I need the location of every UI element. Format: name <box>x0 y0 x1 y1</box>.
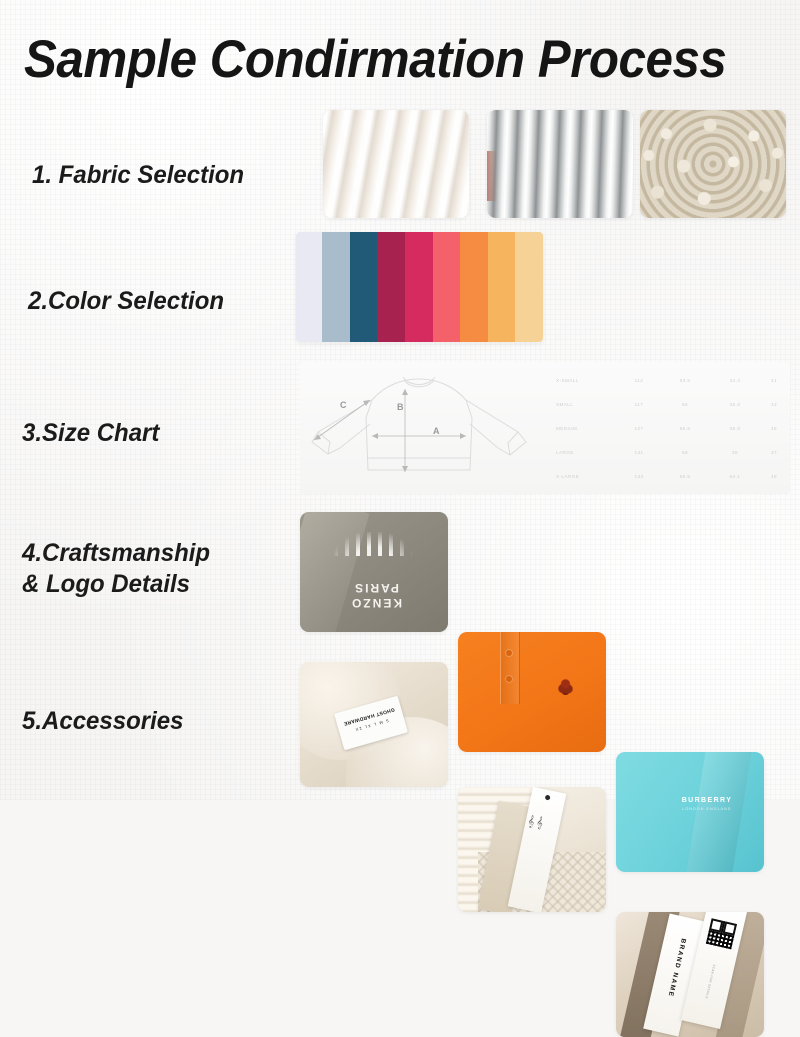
color-palette-card[interactable] <box>296 232 543 342</box>
size-chart-panel[interactable]: A B C X-SMALL11263.534.441SMALL1176535.6… <box>300 362 790 494</box>
size-table-size-cell: SMALL <box>552 392 618 416</box>
size-table-row: X-SMALL11263.534.441 <box>552 368 788 392</box>
accessory-photo-brand-tag[interactable]: BRAND NAME SCAN FOR DETAILS <box>616 912 764 1037</box>
color-band-light-blue-grey[interactable] <box>322 232 350 342</box>
size-table-row: LARGE131683847 <box>552 440 788 464</box>
qr-code-icon <box>706 918 737 949</box>
size-table-value-cell: 69.5 <box>660 464 710 488</box>
accessory-photo-hang-tags[interactable]: 𝄞 𝄞 <box>458 787 606 912</box>
size-table-value-cell: 35.6 <box>710 392 760 416</box>
size-table-value-cell: 63.5 <box>660 368 710 392</box>
size-table-value-cell: 65 <box>660 392 710 416</box>
size-table-value-cell: 64.1 <box>710 464 760 488</box>
size-table-value-cell: 68 <box>660 440 710 464</box>
kenzo-brand-line2: PARIS <box>330 580 422 595</box>
size-measurement-table: X-SMALL11263.534.441SMALL1176535.643MEDI… <box>552 368 788 490</box>
step-label-accessories: 5.Accessories <box>22 706 183 737</box>
measure-letter-b: B <box>397 402 404 412</box>
kenzo-brand-line1: KENZO <box>330 595 422 610</box>
size-table-value-cell: 38 <box>710 440 760 464</box>
step-row-fabric-selection: 1. Fabric Selection <box>0 110 800 225</box>
size-table-value-cell: 41 <box>760 368 788 392</box>
step-label-craftsmanship-line2: & Logo Details <box>22 569 190 600</box>
size-table-row: SMALL1176535.643 <box>552 392 788 416</box>
size-table-value-cell: 45 <box>760 416 788 440</box>
color-band-light-orange[interactable] <box>488 232 516 342</box>
color-band-coral-red[interactable] <box>433 232 461 342</box>
sample-process-infographic: Sample Condirmation Process 1. Fabric Se… <box>0 0 800 800</box>
size-table-size-cell: MEDIUM <box>552 416 618 440</box>
size-table-size-cell: X-LARGE <box>552 464 618 488</box>
measure-letter-c: C <box>340 400 347 410</box>
garment-technical-drawing <box>300 362 550 494</box>
step-label-fabric-selection: 1. Fabric Selection <box>32 160 244 191</box>
step-row-color-selection: 2.Color Selection <box>0 232 800 347</box>
size-table-row: X-LARGE13369.564.149 <box>552 464 788 488</box>
color-band-pale-lavender[interactable] <box>296 232 322 342</box>
accessory-photo-care-label[interactable]: GHOST HARDWARE S M L XL 2X <box>300 662 448 787</box>
size-table-value-cell: 66.5 <box>660 416 710 440</box>
size-table-value-cell: 43 <box>760 392 788 416</box>
size-table-value-cell: 49 <box>760 464 788 488</box>
size-table-value-cell: 117 <box>618 392 660 416</box>
burberry-brand-text: BURBERRY <box>662 797 752 804</box>
size-table-size-cell: LARGE <box>552 440 618 464</box>
qr-caption: SCAN FOR DETAILS <box>704 964 716 1000</box>
size-table-value-cell: 133 <box>618 464 660 488</box>
size-table-row: MEDIUM12766.536.845 <box>552 416 788 440</box>
color-band-crimson-magenta[interactable] <box>377 232 405 342</box>
kenzo-logo-text: KENZO PARIS <box>330 540 422 610</box>
step-row-accessories: 5.Accessories GHOST HARDWARE S M L XL 2X… <box>0 662 800 797</box>
color-band-deep-teal-blue[interactable] <box>350 232 378 342</box>
page-title: Sample Condirmation Process <box>24 30 731 90</box>
polo-button-top <box>506 650 512 656</box>
size-table-value-cell: 47 <box>760 440 788 464</box>
size-table-value-cell: 131 <box>618 440 660 464</box>
step-label-size-chart: 3.Size Chart <box>22 418 159 449</box>
size-table-value-cell: 36.8 <box>710 416 760 440</box>
measure-letter-a: A <box>433 426 440 436</box>
color-band-bright-orange[interactable] <box>460 232 488 342</box>
size-table-value-cell: 112 <box>618 368 660 392</box>
fabric-swatch-boucle-beige[interactable] <box>640 110 786 218</box>
size-table-value-cell: 34.4 <box>710 368 760 392</box>
step-row-craftsmanship: 4.Craftsmanship & Logo Details KENZO PAR… <box>0 512 800 637</box>
step-label-color-selection: 2.Color Selection <box>28 286 224 317</box>
step-row-size-chart: 3.Size Chart <box>0 362 800 497</box>
fabric-swatch-pleated-grey[interactable] <box>487 110 633 218</box>
burberry-brand-subtext: LONDON ENGLAND <box>662 807 752 811</box>
step-label-craftsmanship-line1: 4.Craftsmanship <box>22 538 210 569</box>
size-table-value-cell: 127 <box>618 416 660 440</box>
craft-photo-kenzo-logo[interactable]: KENZO PARIS <box>300 512 448 632</box>
size-table-size-cell: X-SMALL <box>552 368 618 392</box>
color-band-peach-sand[interactable] <box>515 232 543 342</box>
fabric-swatch-cable-knit[interactable] <box>323 110 469 218</box>
color-band-raspberry-pink[interactable] <box>405 232 433 342</box>
